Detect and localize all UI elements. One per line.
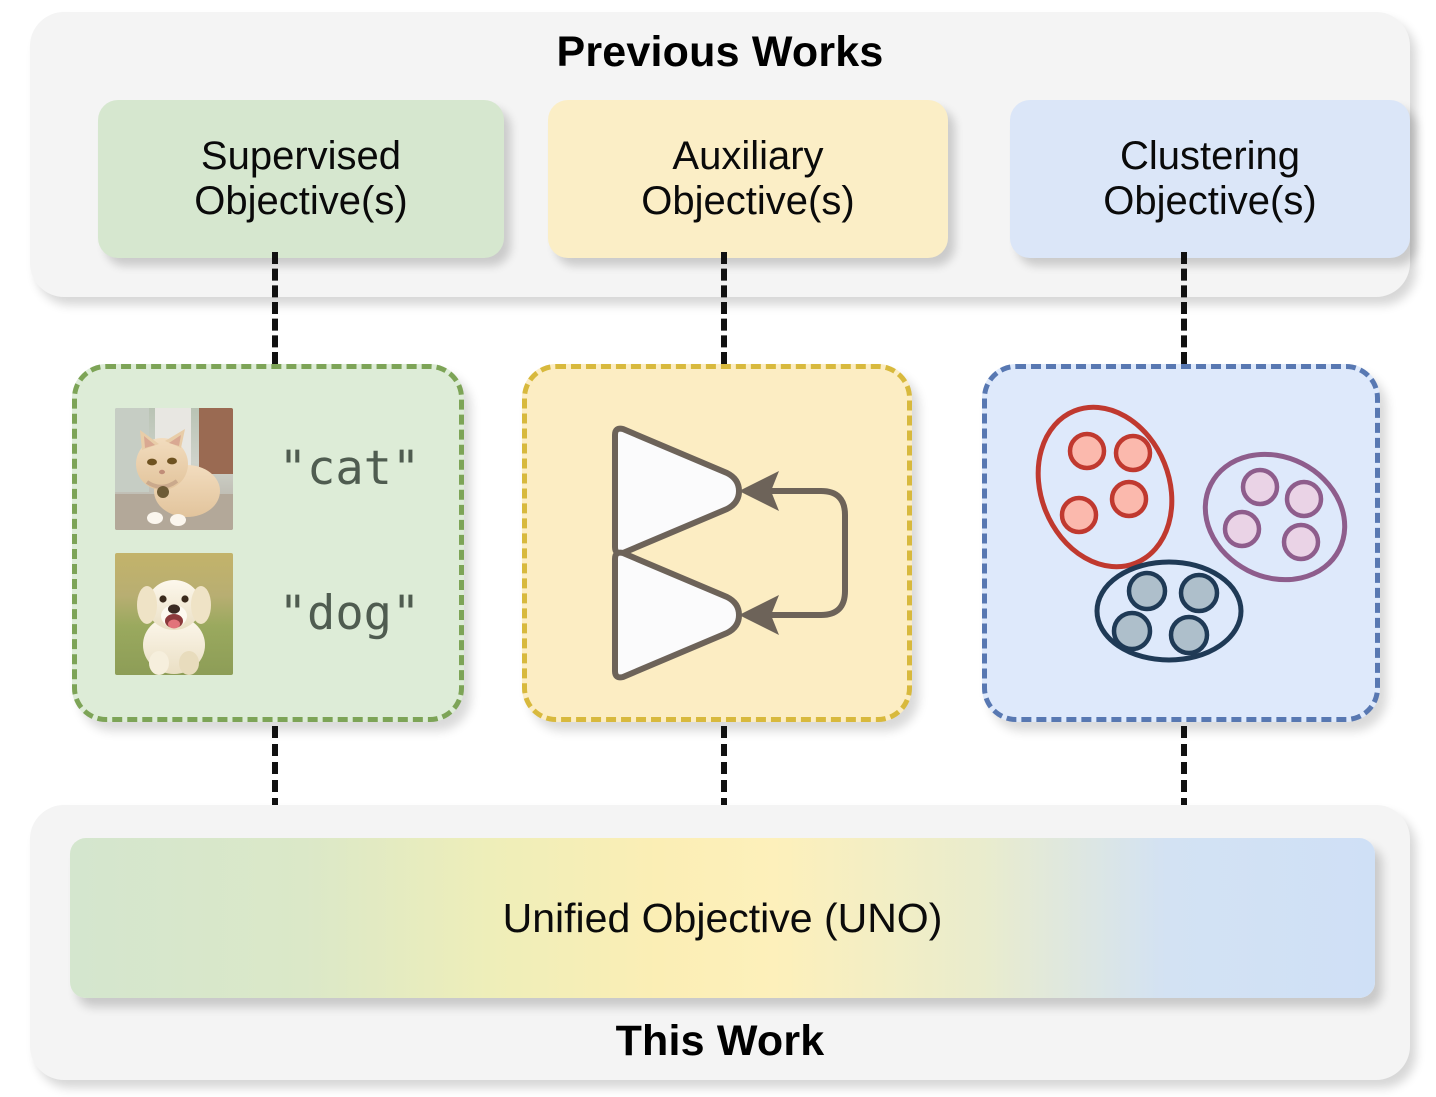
clustering-diagram-svg (987, 369, 1385, 727)
panel-supervised: "cat" (72, 364, 464, 722)
cluster-red-dot (1116, 436, 1150, 470)
cluster-red (1015, 387, 1195, 587)
encoder-triangle-top-icon (615, 429, 739, 554)
cat-photo-svg (115, 408, 233, 530)
cluster-purple-dot (1243, 470, 1277, 504)
connector-auxiliary-top (721, 252, 727, 364)
previous-works-section: Previous Works Supervised Objective(s) A… (30, 12, 1410, 297)
cat-photo-icon (115, 408, 233, 530)
chip-supervised-objective[interactable]: Supervised Objective(s) (98, 100, 504, 258)
dog-photo-svg (115, 553, 233, 675)
supervised-label-cat: "cat" (257, 441, 442, 496)
cluster-navy-dot (1171, 617, 1207, 653)
feedback-loop-path (763, 491, 845, 615)
supervised-label-dog: "dog" (257, 586, 442, 641)
chip-clustering-objective[interactable]: Clustering Objective(s) (1010, 100, 1410, 258)
chip-auxiliary-objective[interactable]: Auxiliary Objective(s) (548, 100, 948, 258)
unified-objective-bar[interactable]: Unified Objective (UNO) (70, 838, 1375, 998)
chip-auxiliary-label: Auxiliary Objective(s) (641, 134, 854, 224)
chip-clustering-label: Clustering Objective(s) (1103, 134, 1316, 224)
chip-supervised-label: Supervised Objective(s) (194, 134, 407, 224)
previous-works-title: Previous Works (30, 28, 1410, 77)
encoder-triangle-bottom-icon (615, 553, 739, 678)
connector-supervised-top (272, 252, 278, 364)
cluster-red-dot (1112, 482, 1146, 516)
panel-clustering (982, 364, 1380, 722)
cluster-navy-dot (1181, 575, 1217, 611)
auxiliary-diagram-svg (527, 369, 917, 727)
cluster-navy-dot (1114, 613, 1150, 649)
panel-auxiliary (522, 364, 912, 722)
diagram-canvas: Previous Works Supervised Objective(s) A… (0, 0, 1436, 1097)
cluster-purple-dot (1287, 482, 1321, 516)
cluster-purple-dot (1284, 525, 1318, 559)
this-work-title: This Work (30, 1017, 1410, 1066)
unified-objective-label: Unified Objective (UNO) (503, 895, 943, 942)
cluster-purple-dot (1225, 512, 1259, 546)
connector-clustering-top (1181, 252, 1187, 364)
cluster-red-dot (1062, 498, 1096, 532)
dog-photo-icon (115, 553, 233, 675)
cluster-navy-dot (1129, 573, 1165, 609)
cluster-red-dot (1070, 434, 1104, 468)
